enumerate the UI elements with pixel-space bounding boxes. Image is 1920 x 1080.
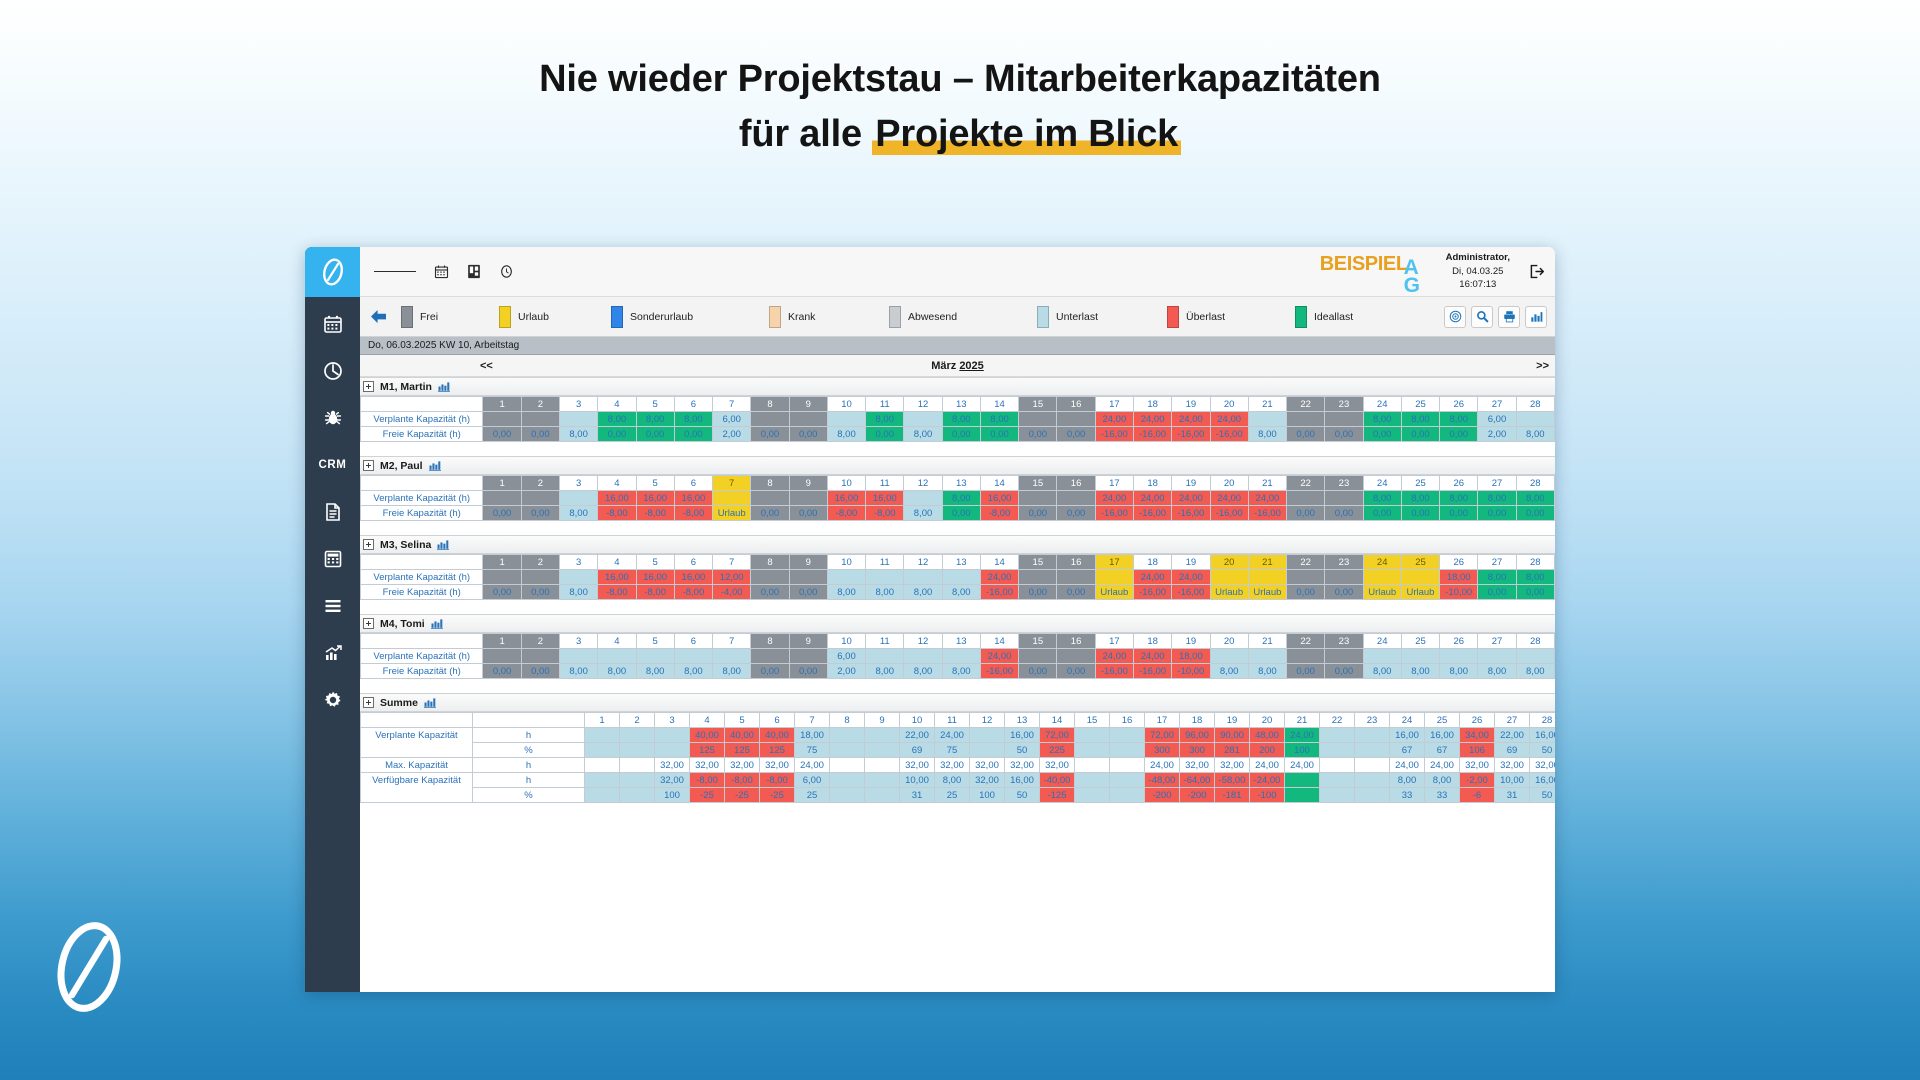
capacity-cell[interactable] <box>585 788 620 803</box>
capacity-cell[interactable] <box>830 743 865 758</box>
day-header-6[interactable]: 6 <box>674 476 712 491</box>
day-header-23[interactable]: 23 <box>1325 476 1363 491</box>
day-header-25[interactable]: 25 <box>1401 555 1439 570</box>
capacity-cell[interactable] <box>1363 649 1401 664</box>
day-header-21[interactable]: 21 <box>1285 713 1320 728</box>
capacity-cell[interactable]: Urlaub <box>1401 585 1439 600</box>
capacity-cell[interactable] <box>751 570 789 585</box>
capacity-cell[interactable]: -16,00 <box>980 585 1018 600</box>
day-header-1[interactable]: 1 <box>483 476 521 491</box>
capacity-cell[interactable]: 40,00 <box>725 728 760 743</box>
capacity-cell[interactable] <box>789 491 827 506</box>
capacity-cell[interactable]: 8,00 <box>598 412 636 427</box>
capacity-cell[interactable]: 0,00 <box>1057 506 1095 521</box>
capacity-cell[interactable]: 8,00 <box>827 427 865 442</box>
day-header-24[interactable]: 24 <box>1363 555 1401 570</box>
capacity-cell[interactable] <box>970 728 1005 743</box>
capacity-cell[interactable] <box>1075 743 1110 758</box>
capacity-cell[interactable]: 0,00 <box>751 664 789 679</box>
capacity-cell[interactable]: -16,00 <box>1172 506 1210 521</box>
capacity-cell[interactable]: 24,00 <box>980 570 1018 585</box>
capacity-cell[interactable]: 34,00 <box>1460 728 1495 743</box>
capacity-cell[interactable]: 67 <box>1390 743 1425 758</box>
capacity-cell[interactable] <box>865 728 900 743</box>
capacity-cell[interactable]: 0,00 <box>1057 427 1095 442</box>
capacity-cell[interactable]: 0,00 <box>1516 585 1554 600</box>
capacity-cell[interactable] <box>1287 412 1325 427</box>
legend-item-abwesend[interactable]: Abwesend <box>889 306 1037 328</box>
capacity-cell[interactable]: 6,00 <box>795 773 830 788</box>
capacity-cell[interactable]: 2,00 <box>1478 427 1516 442</box>
day-header-25[interactable]: 25 <box>1401 634 1439 649</box>
day-header-4[interactable]: 4 <box>598 634 636 649</box>
capacity-cell[interactable]: 8,00 <box>1401 664 1439 679</box>
capacity-cell[interactable]: 0,00 <box>1401 506 1439 521</box>
capacity-cell[interactable]: 0,00 <box>866 427 904 442</box>
capacity-cell[interactable]: 2,00 <box>827 664 865 679</box>
day-header-10[interactable]: 10 <box>827 634 865 649</box>
capacity-cell[interactable]: 69 <box>1495 743 1530 758</box>
chart-icon[interactable] <box>429 460 441 471</box>
capacity-cell[interactable]: 16,00 <box>866 491 904 506</box>
capacity-cell[interactable]: 281 <box>1215 743 1250 758</box>
capacity-cell[interactable]: -16,00 <box>980 664 1018 679</box>
capacity-cell[interactable]: 8,00 <box>636 412 674 427</box>
capacity-cell[interactable]: 0,00 <box>789 506 827 521</box>
capacity-cell[interactable] <box>830 773 865 788</box>
capacity-cell[interactable]: 16,00 <box>1530 728 1556 743</box>
capacity-cell[interactable]: 8,00 <box>1516 491 1554 506</box>
day-header-26[interactable]: 26 <box>1460 713 1495 728</box>
capacity-cell[interactable] <box>751 412 789 427</box>
capacity-cell[interactable]: -25 <box>690 788 725 803</box>
capacity-cell[interactable]: 0,00 <box>483 427 521 442</box>
capacity-cell[interactable]: 0,00 <box>636 427 674 442</box>
capacity-cell[interactable] <box>970 743 1005 758</box>
capacity-cell[interactable]: 32,00 <box>900 758 935 773</box>
capacity-cell[interactable]: 16,00 <box>674 491 712 506</box>
capacity-cell[interactable]: 24,00 <box>935 728 970 743</box>
capacity-cell[interactable] <box>1320 743 1355 758</box>
capacity-cell[interactable]: 18,00 <box>1440 570 1478 585</box>
chart-icon[interactable] <box>437 539 449 550</box>
capacity-cell[interactable]: 32,00 <box>1215 758 1250 773</box>
capacity-cell[interactable]: Urlaub <box>1363 585 1401 600</box>
day-header-27[interactable]: 27 <box>1478 397 1516 412</box>
capacity-cell[interactable]: -16,00 <box>1095 664 1133 679</box>
day-header-24[interactable]: 24 <box>1390 713 1425 728</box>
capacity-cell[interactable]: 32,00 <box>935 758 970 773</box>
day-header-14[interactable]: 14 <box>980 634 1018 649</box>
capacity-cell[interactable] <box>1110 743 1145 758</box>
day-header-7[interactable]: 7 <box>795 713 830 728</box>
capacity-cell[interactable]: 0,00 <box>789 585 827 600</box>
chart-icon[interactable] <box>431 618 443 629</box>
day-header-4[interactable]: 4 <box>598 397 636 412</box>
capacity-cell[interactable]: -200 <box>1145 788 1180 803</box>
capacity-cell[interactable]: -8,00 <box>760 773 795 788</box>
capacity-cell[interactable]: 32,00 <box>655 773 690 788</box>
capacity-cell[interactable] <box>1516 412 1554 427</box>
day-header-7[interactable]: 7 <box>713 397 751 412</box>
day-header-7[interactable]: 7 <box>713 555 751 570</box>
capacity-cell[interactable] <box>620 788 655 803</box>
capacity-cell[interactable]: 8,00 <box>674 412 712 427</box>
capacity-cell[interactable]: 40,00 <box>690 728 725 743</box>
day-header-28[interactable]: 28 <box>1516 555 1554 570</box>
day-header-29[interactable]: 29 <box>1554 555 1555 570</box>
capacity-cell[interactable] <box>1019 649 1057 664</box>
day-header-20[interactable]: 20 <box>1210 634 1248 649</box>
capacity-cell[interactable]: Urlaub <box>713 506 751 521</box>
capacity-cell[interactable] <box>1401 649 1439 664</box>
expand-icon[interactable] <box>363 381 374 392</box>
capacity-cell[interactable]: 0,00 <box>483 585 521 600</box>
capacity-cell[interactable] <box>904 412 942 427</box>
capacity-cell[interactable]: 8,00 <box>674 664 712 679</box>
capacity-cell[interactable]: 0,00 <box>1401 427 1439 442</box>
day-header-24[interactable]: 24 <box>1363 476 1401 491</box>
capacity-cell[interactable] <box>789 570 827 585</box>
capacity-cell[interactable]: 8,00 <box>1363 491 1401 506</box>
capacity-cell[interactable]: 125 <box>690 743 725 758</box>
day-header-27[interactable]: 27 <box>1495 713 1530 728</box>
next-month-button[interactable]: >> <box>1536 360 1549 372</box>
capacity-cell[interactable]: 24,00 <box>980 649 1018 664</box>
capacity-cell[interactable]: 0,00 <box>1057 664 1095 679</box>
day-header-13[interactable]: 13 <box>942 476 980 491</box>
day-header-22[interactable]: 22 <box>1287 555 1325 570</box>
day-header-25[interactable]: 25 <box>1425 713 1460 728</box>
capacity-cell[interactable]: -16,00 <box>1210 427 1248 442</box>
day-header-10[interactable]: 10 <box>827 476 865 491</box>
sidebar-item-crm[interactable]: CRM <box>305 445 360 485</box>
capacity-cell[interactable]: -4,00 <box>713 585 751 600</box>
day-header-21[interactable]: 21 <box>1248 634 1286 649</box>
capacity-cell[interactable] <box>1325 491 1363 506</box>
capacity-cell[interactable]: -16,00 <box>1095 427 1133 442</box>
day-header-28[interactable]: 28 <box>1516 397 1554 412</box>
day-header-9[interactable]: 9 <box>789 476 827 491</box>
capacity-cell[interactable]: 8,00 <box>935 773 970 788</box>
capacity-cell[interactable]: 16,00 <box>980 491 1018 506</box>
capacity-cell[interactable]: 8,00 <box>1478 491 1516 506</box>
print-icon[interactable] <box>1498 306 1520 328</box>
capacity-cell[interactable] <box>521 412 559 427</box>
capacity-cell[interactable] <box>483 649 521 664</box>
capacity-cell[interactable]: 0,00 <box>1287 427 1325 442</box>
capacity-cell[interactable]: 24,00 <box>1172 491 1210 506</box>
capacity-cell[interactable]: 0,00 <box>1554 506 1555 521</box>
employee-header[interactable]: Summe <box>360 693 1555 712</box>
capacity-cell[interactable]: -8,00 <box>725 773 760 788</box>
day-header-5[interactable]: 5 <box>636 555 674 570</box>
employee-header[interactable]: M1, Martin <box>360 377 1555 396</box>
capacity-cell[interactable]: 0,00 <box>980 427 1018 442</box>
capacity-cell[interactable]: -16,00 <box>1172 427 1210 442</box>
day-header-26[interactable]: 26 <box>1440 397 1478 412</box>
capacity-cell[interactable]: 10,00 <box>1495 773 1530 788</box>
capacity-cell[interactable] <box>483 412 521 427</box>
capacity-cell[interactable]: 8,00 <box>713 664 751 679</box>
capacity-cell[interactable]: 0,00 <box>751 506 789 521</box>
capacity-cell[interactable]: 0,00 <box>942 427 980 442</box>
sidebar-item-time-tracking[interactable] <box>305 351 360 391</box>
capacity-cell[interactable] <box>521 649 559 664</box>
expand-icon[interactable] <box>363 539 374 550</box>
day-header-5[interactable]: 5 <box>636 397 674 412</box>
day-header-16[interactable]: 16 <box>1057 476 1095 491</box>
capacity-cell[interactable]: -24,00 <box>1250 773 1285 788</box>
capacity-cell[interactable]: -16,00 <box>1133 506 1171 521</box>
capacity-cell[interactable]: 24,00 <box>1133 649 1171 664</box>
capacity-cell[interactable]: 8,00 <box>598 664 636 679</box>
capacity-cell[interactable] <box>1285 773 1320 788</box>
day-header-15[interactable]: 15 <box>1075 713 1110 728</box>
capacity-cell[interactable]: 32,00 <box>1460 758 1495 773</box>
day-header-11[interactable]: 11 <box>866 555 904 570</box>
day-header-23[interactable]: 23 <box>1355 713 1390 728</box>
day-header-21[interactable]: 21 <box>1248 555 1286 570</box>
capacity-cell[interactable]: 50 <box>1005 788 1040 803</box>
day-header-11[interactable]: 11 <box>866 476 904 491</box>
day-header-17[interactable]: 17 <box>1095 397 1133 412</box>
capacity-cell[interactable]: 0,00 <box>1478 585 1516 600</box>
capacity-cell[interactable] <box>620 773 655 788</box>
capacity-cell[interactable]: 24,00 <box>1425 758 1460 773</box>
day-header-8[interactable]: 8 <box>830 713 865 728</box>
capacity-cell[interactable]: 8,00 <box>560 585 598 600</box>
capacity-cell[interactable]: -10,00 <box>1440 585 1478 600</box>
capacity-cell[interactable]: 0,00 <box>1363 506 1401 521</box>
legend-item-überlast[interactable]: Überlast <box>1167 306 1295 328</box>
capacity-cell[interactable]: 8,00 <box>560 427 598 442</box>
day-header-20[interactable]: 20 <box>1210 555 1248 570</box>
capacity-cell[interactable]: -2,00 <box>1460 773 1495 788</box>
capacity-cell[interactable]: 16,00 <box>598 570 636 585</box>
capacity-cell[interactable] <box>483 570 521 585</box>
capacity-cell[interactable]: 8,00 <box>560 664 598 679</box>
day-header-14[interactable]: 14 <box>1040 713 1075 728</box>
capacity-cell[interactable] <box>789 412 827 427</box>
capacity-cell[interactable]: 100 <box>1285 743 1320 758</box>
capacity-cell[interactable]: 8,00 <box>866 585 904 600</box>
capacity-cell[interactable] <box>1057 412 1095 427</box>
capacity-cell[interactable]: 24,00 <box>1285 728 1320 743</box>
capacity-cell[interactable]: 8,00 <box>1516 427 1554 442</box>
sidebar-item-calculator[interactable] <box>305 539 360 579</box>
capacity-cell[interactable] <box>1110 773 1145 788</box>
capacity-cell[interactable] <box>1355 743 1390 758</box>
day-header-27[interactable]: 27 <box>1478 476 1516 491</box>
day-header-4[interactable]: 4 <box>598 555 636 570</box>
capacity-cell[interactable]: 0,00 <box>1554 585 1555 600</box>
day-header-27[interactable]: 27 <box>1478 555 1516 570</box>
capacity-cell[interactable]: 0,00 <box>483 664 521 679</box>
capacity-cell[interactable] <box>865 758 900 773</box>
capacity-cell[interactable]: 90,00 <box>1215 728 1250 743</box>
capacity-cell[interactable]: -16,00 <box>1172 585 1210 600</box>
capacity-cell[interactable] <box>830 728 865 743</box>
capacity-cell[interactable]: 6,00 <box>1478 412 1516 427</box>
capacity-cell[interactable] <box>598 649 636 664</box>
day-header-10[interactable]: 10 <box>827 397 865 412</box>
day-header-11[interactable]: 11 <box>935 713 970 728</box>
day-header-1[interactable]: 1 <box>483 555 521 570</box>
day-header-1[interactable]: 1 <box>483 397 521 412</box>
day-header-19[interactable]: 19 <box>1172 555 1210 570</box>
capacity-cell[interactable]: 32,00 <box>655 758 690 773</box>
capacity-cell[interactable]: -125 <box>1040 788 1075 803</box>
back-arrow-icon[interactable] <box>370 309 387 324</box>
capacity-cell[interactable]: 0,00 <box>1287 585 1325 600</box>
day-header-8[interactable]: 8 <box>751 397 789 412</box>
capacity-cell[interactable]: 0,00 <box>1516 506 1554 521</box>
capacity-cell[interactable]: 16,00 <box>1005 728 1040 743</box>
capacity-cell[interactable]: 0,00 <box>1363 427 1401 442</box>
day-header-10[interactable]: 10 <box>900 713 935 728</box>
capacity-cell[interactable]: 18,00 <box>1172 649 1210 664</box>
capacity-cell[interactable]: 8,00 <box>1363 664 1401 679</box>
capacity-cell[interactable]: 0,00 <box>1478 506 1516 521</box>
capacity-cell[interactable]: 300 <box>1145 743 1180 758</box>
capacity-cell[interactable] <box>521 491 559 506</box>
capacity-cell[interactable]: 16,00 <box>598 491 636 506</box>
capacity-cell[interactable]: 24,00 <box>1095 412 1133 427</box>
capacity-cell[interactable]: 31 <box>900 788 935 803</box>
capacity-cell[interactable]: 0,00 <box>751 427 789 442</box>
capacity-cell[interactable]: 0,00 <box>789 427 827 442</box>
capacity-cell[interactable]: -8,00 <box>866 506 904 521</box>
day-header-13[interactable]: 13 <box>942 555 980 570</box>
capacity-cell[interactable]: 40,00 <box>760 728 795 743</box>
day-header-2[interactable]: 2 <box>620 713 655 728</box>
day-header-9[interactable]: 9 <box>789 634 827 649</box>
day-header-5[interactable]: 5 <box>636 634 674 649</box>
capacity-cell[interactable] <box>620 728 655 743</box>
capacity-cell[interactable]: -8,00 <box>598 506 636 521</box>
capacity-cell[interactable]: -8,00 <box>674 506 712 521</box>
day-header-16[interactable]: 16 <box>1110 713 1145 728</box>
chart-icon[interactable] <box>424 697 436 708</box>
capacity-cell[interactable] <box>751 491 789 506</box>
capacity-cell[interactable]: 0,00 <box>521 506 559 521</box>
sidebar-item-invoices[interactable] <box>305 492 360 532</box>
legend-item-krank[interactable]: Krank <box>769 306 889 328</box>
capacity-cell[interactable]: 25 <box>935 788 970 803</box>
capacity-cell[interactable] <box>866 570 904 585</box>
capacity-cell[interactable] <box>1287 570 1325 585</box>
day-header-26[interactable]: 26 <box>1440 555 1478 570</box>
capacity-cell[interactable] <box>713 491 751 506</box>
capacity-cell[interactable] <box>1355 788 1390 803</box>
capacity-cell[interactable] <box>1057 649 1095 664</box>
day-header-6[interactable]: 6 <box>674 634 712 649</box>
capacity-cell[interactable] <box>751 649 789 664</box>
logout-icon[interactable] <box>1528 263 1545 280</box>
capacity-cell[interactable]: 0,00 <box>1325 427 1363 442</box>
capacity-cell[interactable] <box>1248 649 1286 664</box>
capacity-cell[interactable]: -6 <box>1460 788 1495 803</box>
capacity-cell[interactable]: 0,00 <box>483 506 521 521</box>
target-icon[interactable] <box>1444 306 1466 328</box>
day-header-19[interactable]: 19 <box>1215 713 1250 728</box>
day-header-12[interactable]: 12 <box>970 713 1005 728</box>
capacity-cell[interactable]: 16,00 <box>827 491 865 506</box>
capacity-cell[interactable] <box>1363 570 1401 585</box>
capacity-cell[interactable]: 24,00 <box>795 758 830 773</box>
capacity-cell[interactable]: 106 <box>1460 743 1495 758</box>
capacity-cell[interactable]: 10,00 <box>900 773 935 788</box>
day-header-15[interactable]: 15 <box>1019 555 1057 570</box>
capacity-cell[interactable]: 24,00 <box>1172 412 1210 427</box>
capacity-cell[interactable]: -8,00 <box>980 506 1018 521</box>
capacity-cell[interactable] <box>483 491 521 506</box>
capacity-cell[interactable]: 0,00 <box>789 664 827 679</box>
day-header-26[interactable]: 26 <box>1440 476 1478 491</box>
capacity-cell[interactable]: 8,00 <box>1210 664 1248 679</box>
capacity-cell[interactable]: 8,00 <box>1248 664 1286 679</box>
capacity-cell[interactable] <box>830 788 865 803</box>
capacity-cell[interactable]: 8,00 <box>1401 412 1439 427</box>
day-header-5[interactable]: 5 <box>725 713 760 728</box>
capacity-cell[interactable] <box>636 649 674 664</box>
capacity-cell[interactable] <box>1401 570 1439 585</box>
capacity-cell[interactable]: 0,00 <box>1019 427 1057 442</box>
capacity-cell[interactable]: 24,00 <box>1095 649 1133 664</box>
capacity-cell[interactable]: 0,00 <box>751 585 789 600</box>
day-header-16[interactable]: 16 <box>1057 397 1095 412</box>
day-header-18[interactable]: 18 <box>1133 555 1171 570</box>
employee-header[interactable]: M2, Paul <box>360 456 1555 475</box>
capacity-cell[interactable] <box>1285 788 1320 803</box>
capacity-cell[interactable] <box>1325 649 1363 664</box>
capacity-cell[interactable]: 72,00 <box>1145 728 1180 743</box>
capacity-cell[interactable]: 32,00 <box>970 773 1005 788</box>
day-header-15[interactable]: 15 <box>1019 397 1057 412</box>
capacity-cell[interactable] <box>1110 788 1145 803</box>
capacity-cell[interactable]: 72,00 <box>1040 728 1075 743</box>
capacity-cell[interactable]: 100 <box>970 788 1005 803</box>
capacity-cell[interactable]: -8,00 <box>827 506 865 521</box>
capacity-cell[interactable]: 100 <box>655 788 690 803</box>
capacity-cell[interactable]: 0,00 <box>1325 585 1363 600</box>
capacity-cell[interactable] <box>1440 649 1478 664</box>
day-header-23[interactable]: 23 <box>1325 555 1363 570</box>
day-header-12[interactable]: 12 <box>904 476 942 491</box>
capacity-cell[interactable]: 200 <box>1250 743 1285 758</box>
capacity-cell[interactable]: 16,00 <box>1005 773 1040 788</box>
day-header-2[interactable]: 2 <box>521 555 559 570</box>
day-header-11[interactable]: 11 <box>866 397 904 412</box>
capacity-grid[interactable]: Do, 06.03.2025 KW 10, Arbeitstag << März… <box>360 337 1555 992</box>
capacity-cell[interactable]: 8,00 <box>904 664 942 679</box>
capacity-cell[interactable]: 6,00 <box>713 412 751 427</box>
capacity-cell[interactable]: 0,00 <box>1287 664 1325 679</box>
capacity-cell[interactable] <box>1320 773 1355 788</box>
day-header-17[interactable]: 17 <box>1095 476 1133 491</box>
capacity-cell[interactable]: -8,00 <box>636 585 674 600</box>
capacity-cell[interactable] <box>1019 491 1057 506</box>
capacity-cell[interactable]: 0,00 <box>1440 427 1478 442</box>
day-header-16[interactable]: 16 <box>1057 555 1095 570</box>
day-header-23[interactable]: 23 <box>1325 634 1363 649</box>
capacity-cell[interactable]: 12,00 <box>713 570 751 585</box>
capacity-cell[interactable] <box>865 773 900 788</box>
capacity-cell[interactable]: 8,00 <box>942 491 980 506</box>
capacity-cell[interactable] <box>904 491 942 506</box>
capacity-cell[interactable]: 16,00 <box>636 570 674 585</box>
